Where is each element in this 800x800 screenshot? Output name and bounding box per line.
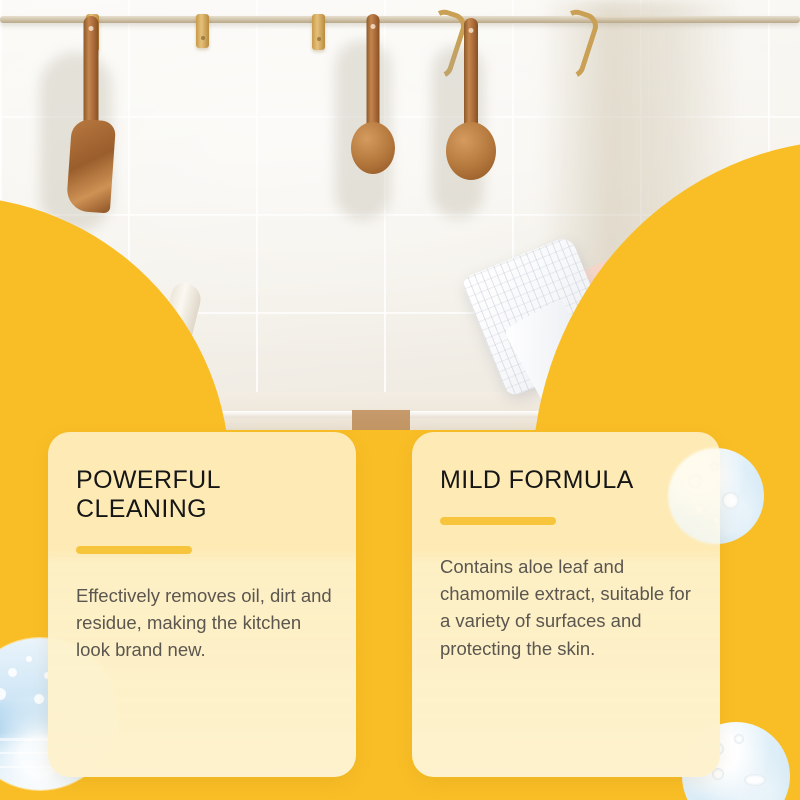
brass-hook-icon bbox=[312, 14, 325, 50]
accent-bar bbox=[440, 517, 556, 525]
spoon-handle bbox=[367, 14, 380, 132]
card-title: MILD FORMULA bbox=[440, 466, 698, 495]
banner-root: POWERFUL CLEANING Effectively removes oi… bbox=[0, 0, 800, 800]
card-content: MILD FORMULA Contains aloe leaf and cham… bbox=[440, 466, 698, 680]
spatula-blade bbox=[66, 119, 116, 214]
card-body: Effectively removes oil, dirt and residu… bbox=[76, 582, 334, 664]
feature-card-powerful-cleaning: POWERFUL CLEANING Effectively removes oi… bbox=[48, 432, 356, 777]
brass-hook-icon bbox=[196, 14, 209, 48]
ladle-bowl bbox=[446, 122, 496, 180]
card-title: POWERFUL CLEANING bbox=[76, 466, 334, 524]
accent-bar bbox=[76, 546, 192, 554]
ladle-handle bbox=[464, 18, 478, 134]
wooden-spatula bbox=[62, 16, 120, 212]
card-body: Contains aloe leaf and chamomile extract… bbox=[440, 553, 698, 662]
wooden-ladle bbox=[448, 18, 494, 198]
feature-card-mild-formula: MILD FORMULA Contains aloe leaf and cham… bbox=[412, 432, 720, 777]
spatula-handle bbox=[84, 16, 99, 136]
hang-hole bbox=[371, 24, 376, 29]
hang-hole bbox=[469, 28, 474, 33]
card-content: POWERFUL CLEANING Effectively removes oi… bbox=[76, 466, 334, 682]
hang-hole bbox=[89, 26, 94, 31]
brass-rail bbox=[0, 16, 800, 23]
spoon-bowl bbox=[351, 122, 395, 174]
wooden-spoon bbox=[352, 14, 394, 190]
